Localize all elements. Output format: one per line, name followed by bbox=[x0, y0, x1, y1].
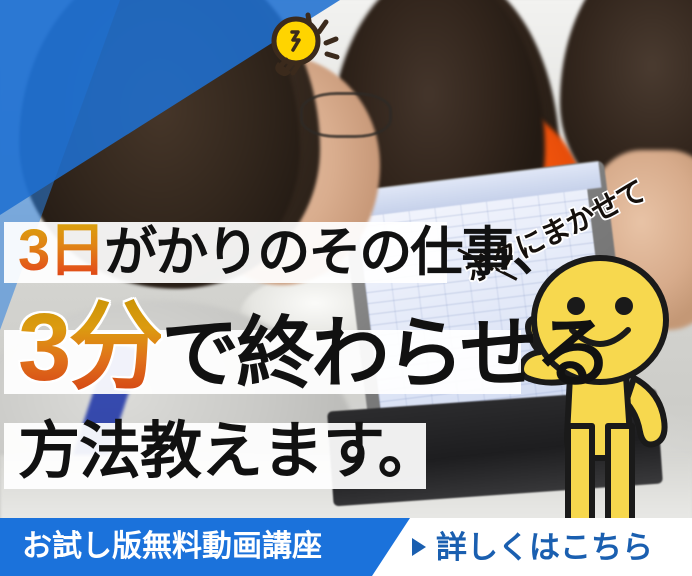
promo-banner: ボクにまかせて 3日がか bbox=[0, 0, 692, 576]
cta-bar: お試し版無料動画講座 詳しくはこちら bbox=[0, 518, 692, 576]
lightbulb-icon bbox=[258, 6, 344, 84]
cta-details-link[interactable]: 詳しくはこちら bbox=[412, 518, 653, 576]
cta-details-label: 詳しくはこちら bbox=[436, 532, 653, 563]
background-man-glasses bbox=[300, 92, 392, 138]
play-triangle-icon bbox=[412, 538, 426, 556]
smiley-mascot bbox=[496, 228, 692, 528]
cta-trial-course-label: お試し版無料動画講座 bbox=[0, 532, 322, 562]
cta-trial-course-button[interactable]: お試し版無料動画講座 bbox=[0, 518, 410, 576]
